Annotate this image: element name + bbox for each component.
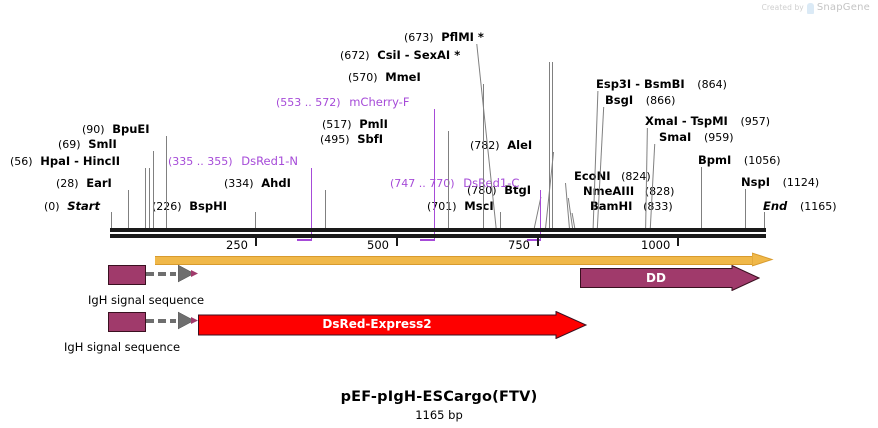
label-esp3i-bsmbi[interactable]: Esp3I - BsmBI (864)	[596, 78, 727, 91]
plasmid-length: 1165 bp	[0, 408, 878, 422]
label-bpmi[interactable]: BpmI (1056)	[698, 154, 781, 167]
page-title: pEF-pIgH-ESCargo(FTV)	[0, 389, 878, 405]
igh-signal-dash-2a	[146, 319, 154, 323]
watermark-brand: SnapGene	[817, 2, 870, 13]
label-bsgi[interactable]: BsgI (866)	[605, 94, 675, 107]
leader-mcherry-f	[434, 109, 435, 241]
label-nspi[interactable]: NspI (1124)	[741, 176, 819, 189]
leader-end	[764, 212, 765, 229]
label-econi[interactable]: EcoNI (824)	[574, 170, 651, 183]
label-bamhi[interactable]: BamHI (833)	[590, 200, 673, 213]
igh-signal-dash-1b	[158, 272, 166, 276]
igh-signal-dash-1a	[146, 272, 154, 276]
label-bpuei[interactable]: (90) BpuEI	[82, 123, 150, 136]
igh-signal-caption-1: IgH signal sequence	[88, 293, 204, 307]
ruler-tick-500	[396, 238, 398, 246]
plasmid-map: Created by SnapGene (0) Start (28) EarI …	[0, 0, 878, 428]
watermark-created-by: Created by	[762, 3, 804, 12]
orf-orange-line[interactable]	[155, 256, 755, 265]
igh-signal-caption-2: IgH signal sequence	[64, 340, 180, 354]
label-dsred1-n[interactable]: (335 .. 355) DsRed1-N	[168, 155, 298, 168]
ruler-label-500: 500	[367, 238, 389, 252]
igh-signal-box-2[interactable]	[108, 312, 146, 332]
label-end[interactable]: End (1165)	[763, 200, 837, 213]
bracket-mcherry-f	[420, 239, 435, 241]
label-dsred1-c[interactable]: (747 .. 770) DsRed1-C	[390, 177, 519, 190]
ruler-label-250: 250	[226, 238, 248, 252]
label-earl[interactable]: (28) EarI	[56, 177, 112, 190]
label-pflmi[interactable]: (673) PflMI *	[404, 31, 484, 44]
ruler-label-750: 750	[508, 238, 530, 252]
leader-bpmi	[701, 167, 702, 229]
leader-ahdi	[325, 190, 326, 229]
label-csii-sexai[interactable]: (672) CsiI - SexAI *	[340, 49, 460, 62]
label-start[interactable]: (0) Start	[44, 200, 100, 213]
orf-dsred-label: DsRed-Express2	[198, 317, 556, 331]
ruler-tick-250	[255, 238, 257, 246]
leader-sexai	[552, 62, 553, 229]
label-ahdi[interactable]: (334) AhdI	[224, 177, 291, 190]
leader-bpuei	[166, 136, 167, 229]
igh-signal-dash-1c	[170, 272, 176, 276]
label-smai[interactable]: SmaI (959)	[659, 131, 734, 144]
snapgene-logo-icon	[807, 3, 814, 14]
leader-earl	[128, 190, 129, 229]
leader-hpai	[145, 168, 146, 229]
label-hpai-hincii[interactable]: (56) HpaI - HincII	[10, 155, 120, 168]
snapgene-watermark: Created by SnapGene	[762, 2, 870, 13]
orf-dd-label: DD	[580, 271, 732, 285]
leader-pmli	[448, 131, 449, 229]
backbone-top-line	[110, 228, 766, 232]
ruler-tick-1000	[677, 238, 679, 246]
leader-csii	[549, 62, 550, 229]
label-alei[interactable]: (782) AleI	[470, 139, 532, 152]
leader-bsphi	[255, 212, 256, 229]
ruler-tick-750	[537, 238, 539, 246]
label-nmeaiii[interactable]: NmeAIII (828)	[583, 185, 674, 198]
leader-msci	[500, 212, 501, 229]
igh-signal-dash-2c	[170, 319, 176, 323]
ruler-label-1000: 1000	[641, 238, 670, 252]
igh-signal-dash-2b	[158, 319, 166, 323]
leader-nspi	[745, 189, 746, 229]
igh-signal-box-1[interactable]	[108, 265, 146, 285]
leader-start	[111, 212, 112, 229]
label-smli[interactable]: (69) SmlI	[58, 138, 117, 151]
label-pmli[interactable]: (517) PmlI	[322, 118, 388, 131]
label-xmai-tspmi[interactable]: XmaI - TspMI (957)	[645, 115, 770, 128]
label-mmei[interactable]: (570) MmeI	[348, 71, 421, 84]
label-mcherry-f[interactable]: (553 .. 572) mCherry-F	[276, 96, 409, 109]
label-bsphi[interactable]: (226) BspHI	[152, 200, 227, 213]
label-sbfi[interactable]: (495) SbfI	[320, 133, 383, 146]
leader-hincii	[149, 168, 150, 229]
bracket-dsred1-n	[297, 239, 312, 241]
igh-signal-arrowhead-1[interactable]	[178, 264, 200, 284]
igh-signal-arrowhead-2[interactable]	[178, 311, 200, 331]
leader-smli	[153, 151, 154, 229]
